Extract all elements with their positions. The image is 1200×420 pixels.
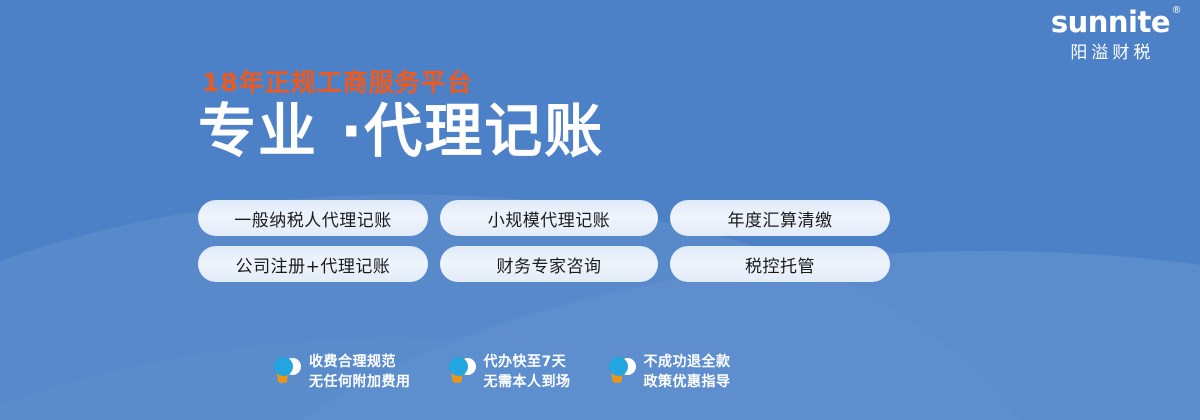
- feature-line-1: 不成功退全款: [644, 354, 731, 370]
- circle-crescent-cup-icon: [447, 356, 475, 388]
- feature-line-2: 政策优惠指导: [644, 374, 731, 390]
- logo-chinese-name: 阳溢财税: [1051, 44, 1170, 61]
- feature-text-guarantee: 不成功退全款 政策优惠指导: [644, 352, 731, 393]
- service-pill-finance-expert-consulting[interactable]: 财务专家咨询: [440, 246, 658, 282]
- circle-crescent-cup-icon: [607, 356, 635, 388]
- service-pill-row-1: 一般纳税人代理记账 小规模代理记账 年度汇算清缴: [198, 200, 890, 236]
- feature-line-1: 代办快至7天: [484, 354, 567, 370]
- service-pill-row-2: 公司注册+代理记账 财务专家咨询 税控托管: [198, 246, 890, 282]
- brand-logo[interactable]: sunnite ® 阳溢财税: [1051, 8, 1170, 61]
- feature-item-pricing: 收费合理规范 无任何附加费用: [272, 352, 411, 393]
- feature-text-pricing: 收费合理规范 无任何附加费用: [309, 352, 411, 393]
- promo-banner: sunnite ® 阳溢财税 18年正规工商服务平台 专业 ·代理记账 一般纳税…: [0, 0, 1200, 420]
- service-pill-company-registration-bookkeeping[interactable]: 公司注册+代理记账: [198, 246, 428, 282]
- feature-line-2: 无任何附加费用: [309, 374, 411, 390]
- logo-wordmark: sunnite ®: [1051, 8, 1170, 37]
- registered-trademark-icon: ®: [1172, 6, 1182, 16]
- service-pill-general-taxpayer-bookkeeping[interactable]: 一般纳税人代理记账: [198, 200, 428, 236]
- blue-circle-shape: [449, 357, 468, 376]
- page-title: 专业 ·代理记账: [198, 101, 604, 162]
- circle-crescent-cup-icon: [272, 356, 300, 388]
- feature-highlights: 收费合理规范 无任何附加费用 代办快至7天 无需本人到场 不成功退全款: [272, 352, 731, 393]
- headline-eyebrow: 18年正规工商服务平台: [202, 70, 604, 95]
- blue-circle-shape: [609, 357, 628, 376]
- feature-text-speed: 代办快至7天 无需本人到场: [484, 352, 571, 393]
- service-pill-tax-control-custody[interactable]: 税控托管: [670, 246, 890, 282]
- feature-line-1: 收费合理规范: [309, 354, 396, 370]
- feature-item-guarantee: 不成功退全款 政策优惠指导: [607, 352, 731, 393]
- headline-block: 18年正规工商服务平台 专业 ·代理记账: [198, 70, 604, 162]
- service-pill-small-scale-bookkeeping[interactable]: 小规模代理记账: [440, 200, 658, 236]
- service-pill-annual-settlement[interactable]: 年度汇算清缴: [670, 200, 890, 236]
- feature-line-2: 无需本人到场: [484, 374, 571, 390]
- logo-wordmark-text: sunnite: [1051, 5, 1170, 39]
- feature-item-speed: 代办快至7天 无需本人到场: [447, 352, 571, 393]
- service-pill-group: 一般纳税人代理记账 小规模代理记账 年度汇算清缴 公司注册+代理记账 财务专家咨…: [198, 200, 890, 282]
